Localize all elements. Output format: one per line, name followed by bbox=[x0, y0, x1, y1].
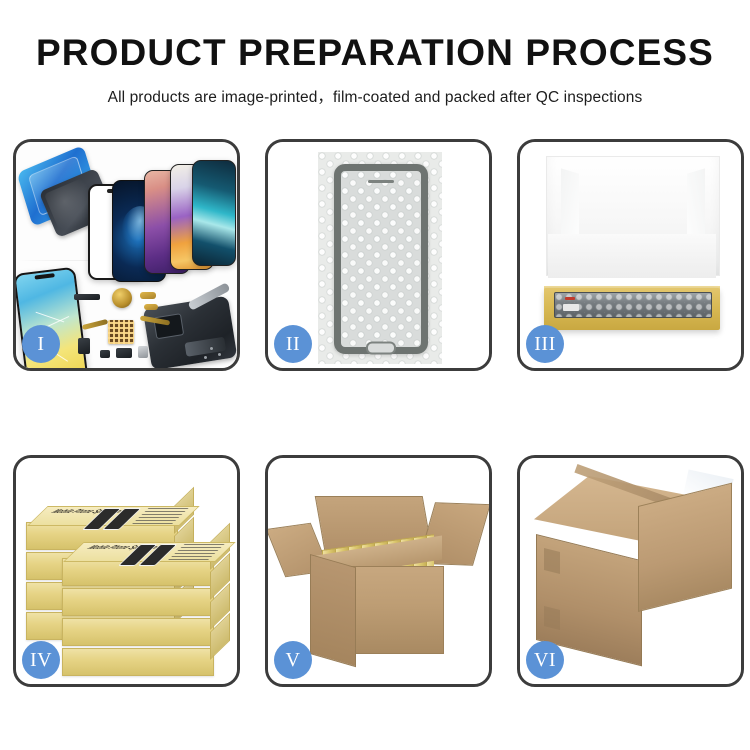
process-step-grid: I II bbox=[13, 139, 737, 687]
step-badge-6: VI bbox=[526, 641, 564, 679]
wrapped-screen-icon bbox=[334, 164, 428, 354]
phone-screen-teal-icon bbox=[192, 160, 236, 266]
printed-box-6 bbox=[62, 588, 214, 616]
printed-box-5: Mobile Phone Spare Parts bbox=[62, 558, 214, 586]
printed-box-7 bbox=[62, 618, 214, 646]
chip-array-icon bbox=[108, 320, 134, 344]
step-badge-5: V bbox=[274, 641, 312, 679]
wireless-coil-icon bbox=[112, 288, 132, 308]
box-stack: Mobile Phone Spare Parts bbox=[22, 476, 234, 666]
step-badge-4: IV bbox=[22, 641, 60, 679]
component-button-icon bbox=[100, 350, 110, 358]
carton-tape-patch-2 bbox=[544, 606, 560, 630]
step-badge-2: II bbox=[274, 325, 312, 363]
packed-screen-icon bbox=[554, 292, 712, 318]
process-step-panel-1[interactable]: I bbox=[13, 139, 240, 371]
page-title: PRODUCT PREPARATION PROCESS bbox=[0, 34, 750, 73]
component-vibrator-icon bbox=[138, 346, 148, 358]
page-header: PRODUCT PREPARATION PROCESS All products… bbox=[0, 0, 750, 107]
component-connector-icon bbox=[140, 292, 156, 299]
carton-tape-patch-1 bbox=[544, 548, 560, 574]
page-subtitle: All products are image-printed，film-coat… bbox=[0, 85, 750, 107]
foam-insert bbox=[548, 234, 716, 278]
process-step-panel-5[interactable]: V bbox=[265, 455, 492, 687]
process-step-panel-6[interactable]: VI bbox=[517, 455, 744, 687]
component-connector-2-icon bbox=[144, 304, 158, 310]
carton-face-left bbox=[310, 554, 356, 667]
component-camera-icon bbox=[116, 348, 132, 358]
component-speaker-icon bbox=[74, 294, 100, 300]
process-step-panel-2[interactable]: II bbox=[265, 139, 492, 371]
process-step-panel-4[interactable]: Mobile Phone Spare Parts bbox=[13, 455, 240, 687]
step-badge-3: III bbox=[526, 325, 564, 363]
process-step-panel-3[interactable]: III bbox=[517, 139, 744, 371]
step-badge-1: I bbox=[22, 325, 60, 363]
component-battery-icon bbox=[78, 338, 90, 354]
printed-box-8 bbox=[62, 648, 214, 676]
